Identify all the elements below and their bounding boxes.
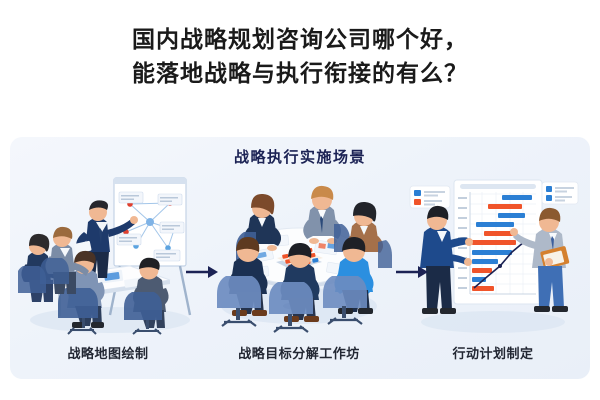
title-line-2: 能落地战略与执行衔接的有么？ (0, 56, 600, 90)
legend-card-right (542, 182, 578, 204)
legend-card-left (410, 186, 450, 208)
scene-strategy-map (18, 170, 198, 340)
caption-step-1: 战略地图绘制 (18, 343, 198, 362)
caption-step-2: 战略目标分解工作坊 (206, 343, 392, 362)
scene-panel: 战略执行实施场景 (10, 137, 590, 379)
scene-workshop (206, 170, 392, 340)
scene-action-plan (402, 170, 584, 340)
arrow-step-2-to-3 (396, 263, 430, 281)
caption-step-3: 行动计划制定 (402, 343, 584, 362)
poster-canvas: 国内战略规划咨询公司哪个好， 能落地战略与执行衔接的有么？ 战略执行实施场景 (0, 0, 600, 400)
arrow-step-1-to-2 (186, 263, 220, 281)
title-line-1: 国内战略规划咨询公司哪个好， (0, 22, 600, 56)
panel-header: 战略执行实施场景 (10, 146, 590, 167)
page-title: 国内战略规划咨询公司哪个好， 能落地战略与执行衔接的有么？ (0, 22, 600, 90)
